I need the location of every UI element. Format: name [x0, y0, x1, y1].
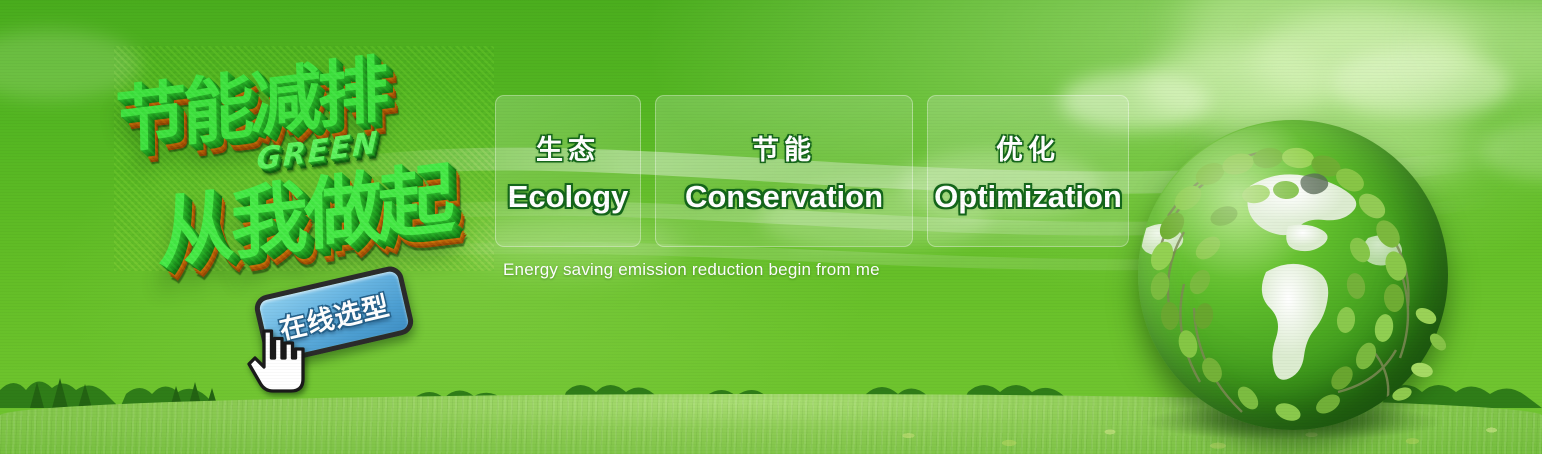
feature-card-cn-label: 节能	[752, 128, 816, 167]
feature-card-en-label: Optimization	[934, 179, 1122, 215]
headline-artwork: 节能减排 GREEN 从我做起	[96, 36, 496, 271]
banner-tagline: Energy saving emission reduction begin f…	[503, 260, 880, 280]
globe-continents	[1138, 120, 1448, 430]
feature-cards: 生态 Ecology 节能 Conservation 优化 Optimizati…	[495, 95, 1129, 247]
feature-card-en-label: Ecology	[508, 179, 629, 215]
feature-card-cn-label: 优化	[996, 128, 1060, 167]
leafy-globe-icon	[1138, 120, 1448, 430]
hand-pointer-icon	[243, 322, 309, 394]
feature-card-ecology[interactable]: 生态 Ecology	[495, 95, 641, 247]
green-energy-banner: 节能减排 GREEN 从我做起 生态 Ecology 节能 Conservati…	[0, 0, 1542, 454]
feature-card-conservation[interactable]: 节能 Conservation	[655, 95, 913, 247]
feature-card-optimization[interactable]: 优化 Optimization	[927, 95, 1129, 247]
feature-card-en-label: Conservation	[685, 179, 883, 215]
headline-line2: 从我做起	[156, 136, 452, 285]
feature-card-cn-label: 生态	[536, 128, 600, 167]
